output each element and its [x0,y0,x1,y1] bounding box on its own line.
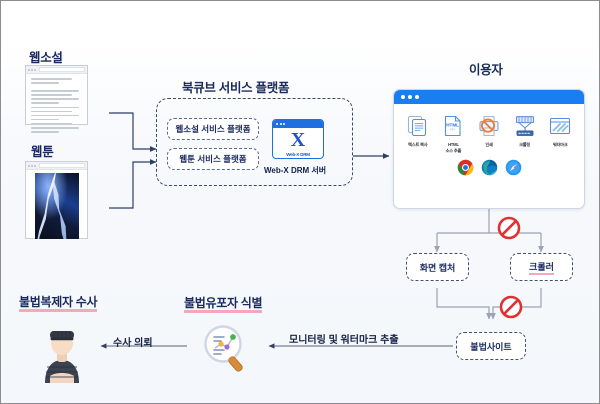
watermark-icon [544,113,576,139]
drm-server-label: Web-X DRM 서버 [264,165,326,176]
pirate-person-badge [33,319,91,390]
platform-service-web-novel-label: 웹소설 서비스 플랫폼 [175,123,250,135]
webtoon-artwork [35,173,79,239]
no-entry-icon [499,295,523,319]
heading-investigate-pirate: 불법복제자 수사 [19,293,97,310]
node-screen-capture[interactable]: 화면 캡처 [406,253,469,281]
heading-platform-label: 북큐브 서비스 플랫폼 [182,81,289,95]
crawling-icon [509,113,541,139]
node-crawler[interactable]: 크롤러 [510,253,573,281]
prohibition-badge-bottom [499,295,523,324]
feature-text-copy[interactable]: 텍스트 복사 [402,113,434,148]
platform-service-webtoon-label: 웹툰 서비스 플랫폼 [179,153,246,165]
heading-identify-distributor-label: 불법유포자 식별 [184,296,262,313]
no-entry-icon [497,216,521,240]
platform-service-webtoon[interactable]: 웹툰 서비스 플랫폼 [167,148,259,170]
chrome-logo-icon [457,159,474,176]
drm-card-caption: Web-X DRM [286,152,310,157]
node-crawler-label: 크롤러 [529,260,554,275]
platform-service-web-novel[interactable]: 웹소설 서비스 플랫폼 [167,118,259,140]
heading-webtoon-label: 웹툰 [31,145,53,159]
feature-html-source[interactable]: HTML </> HTML 소스 추출 [437,113,469,153]
heading-user: 이용자 [469,59,503,78]
feature-html-source-label: HTML 소스 추출 [437,142,469,153]
drm-card-body: X Web-X DRM [273,128,323,158]
flow-label-monitoring: 모니터링 및 워터마크 추출 [289,331,399,346]
feature-crawling[interactable]: 크롤링 [509,113,541,148]
drm-card-titlebar [273,120,323,128]
drm-x-logo-icon: X [291,130,305,150]
drm-server-card[interactable]: X Web-X DRM [272,119,324,159]
magnifier-analytics-badge [199,323,255,380]
heading-webtoon: 웹툰 [31,141,53,160]
protected-features-row: 텍스트 복사 HTML </> HTML 소스 추출 [394,104,584,153]
copy-documents-icon [402,113,434,139]
thumbnail-web-novel [25,65,88,125]
feature-print-label: 인쇄 [473,142,505,148]
heading-web-novel: 웹소설 [29,47,63,66]
safari-logo-icon [505,159,522,176]
feature-watermark[interactable]: 워터마크 [544,113,576,148]
magnifier-analytics-icon [199,323,255,375]
feature-watermark-label: 워터마크 [544,142,576,148]
feature-crawling-label: 크롤링 [509,142,541,148]
heading-identify-distributor: 불법유포자 식별 [184,294,262,311]
svg-text:</>: </> [450,126,456,131]
node-screen-capture-label: 화면 캡처 [420,261,456,274]
feature-text-copy-label: 텍스트 복사 [402,142,434,148]
flow-label-request-investigation: 수사 의뢰 [113,334,153,349]
edge-logo-icon [481,159,498,176]
user-browser-window[interactable]: 텍스트 복사 HTML </> HTML 소스 추출 [393,89,585,209]
browser-titlebar [26,66,87,74]
print-blocked-icon [473,113,505,139]
html-source-icon: HTML </> [437,113,469,139]
supported-browsers-row [394,159,584,176]
text-lines [26,74,87,139]
feature-print[interactable]: 인쇄 [473,113,505,148]
user-window-titlebar [394,90,584,104]
node-illegal-site[interactable]: 불법사이트 [456,332,526,360]
prohibition-badge-top [497,216,521,245]
thumbnail-webtoon [25,161,88,239]
node-illegal-site-label: 불법사이트 [470,340,511,353]
browser-titlebar [26,162,87,170]
diagram-canvas: 웹소설 웹툰 북큐브 서비스 플랫폼 웹소설 서비스 플랫폼 웹툰 서비스 플랫… [0,0,600,404]
heading-investigate-pirate-label: 불법복제자 수사 [19,295,97,312]
heading-platform: 북큐브 서비스 플랫폼 [182,77,289,96]
heading-user-label: 이용자 [469,63,503,77]
pirate-person-icon [33,319,91,385]
